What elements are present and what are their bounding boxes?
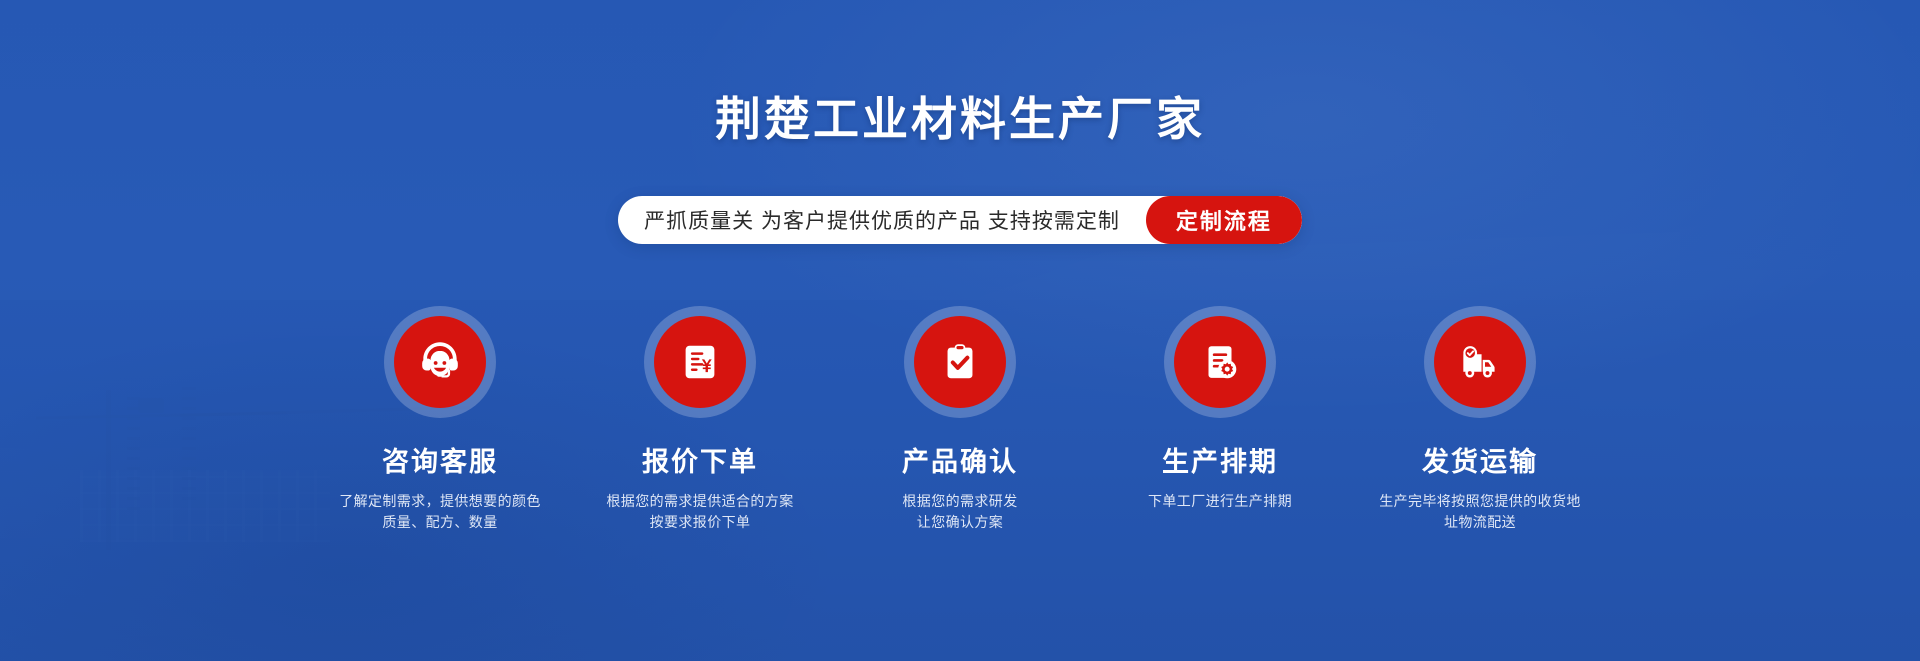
- process-banner: 荆楚工业材料生产厂家 严抓质量关 为客户提供优质的产品 支持按需定制 定制流程: [0, 0, 1920, 661]
- process-step-shipping[interactable]: 发货运输 生产完毕将按照您提供的收货地 址物流配送: [1350, 306, 1610, 533]
- step-icon-ring: [1164, 306, 1276, 418]
- step-title: 发货运输: [1350, 446, 1610, 478]
- step-icon-disc: [1174, 316, 1266, 408]
- step-description-line1: 根据您的需求研发: [902, 493, 1017, 509]
- process-step-product-confirm[interactable]: 产品确认 根据您的需求研发 让您确认方案: [830, 306, 1090, 533]
- step-description: 生产完毕将按照您提供的收货地 址物流配送: [1350, 491, 1610, 533]
- step-icon-ring: [384, 306, 496, 418]
- step-icon-disc: [1434, 316, 1526, 408]
- slogan-bar-wrapper: 严抓质量关 为客户提供优质的产品 支持按需定制 定制流程: [0, 196, 1920, 244]
- step-description-line1: 根据您的需求提供适合的方案: [606, 493, 793, 509]
- step-icon-disc: [394, 316, 486, 408]
- step-description-line2: 址物流配送: [1444, 514, 1516, 530]
- step-description-line1: 了解定制需求，提供想要的颜色: [339, 493, 541, 509]
- custom-process-button[interactable]: 定制流程: [1146, 196, 1302, 244]
- step-description-line2: 质量、配方、数量: [382, 514, 497, 530]
- step-icon-ring: [1424, 306, 1536, 418]
- process-step-list: 咨询客服 了解定制需求，提供想要的颜色 质量、配方、数量: [310, 306, 1610, 533]
- document-gear-icon: [1197, 339, 1243, 385]
- process-step-consult[interactable]: 咨询客服 了解定制需求，提供想要的颜色 质量、配方、数量: [310, 306, 570, 533]
- step-icon-disc: [654, 316, 746, 408]
- step-icon-disc: [914, 316, 1006, 408]
- step-icon-ring: [644, 306, 756, 418]
- step-description: 了解定制需求，提供想要的颜色 质量、配方、数量: [310, 491, 570, 533]
- page-title: 荆楚工业材料生产厂家: [0, 91, 1920, 147]
- headset-support-icon: [415, 337, 465, 387]
- step-description-line2: 按要求报价下单: [650, 514, 751, 530]
- step-description-line1: 生产完毕将按照您提供的收货地: [1379, 493, 1581, 509]
- process-step-production-schedule[interactable]: 生产排期 下单工厂进行生产排期: [1090, 306, 1350, 512]
- step-title: 咨询客服: [310, 446, 570, 478]
- delivery-truck-icon: [1455, 337, 1505, 387]
- process-step-quote-order[interactable]: 报价下单 根据您的需求提供适合的方案 按要求报价下单: [570, 306, 830, 533]
- clipboard-check-icon: [937, 339, 983, 385]
- step-description: 根据您的需求提供适合的方案 按要求报价下单: [570, 491, 830, 533]
- slogan-bar: 严抓质量关 为客户提供优质的产品 支持按需定制 定制流程: [618, 196, 1302, 244]
- banner-content: 荆楚工业材料生产厂家 严抓质量关 为客户提供优质的产品 支持按需定制 定制流程: [0, 0, 1920, 661]
- step-icon-ring: [904, 306, 1016, 418]
- step-description-line1: 下单工厂进行生产排期: [1148, 493, 1292, 509]
- invoice-yuan-icon: [677, 339, 723, 385]
- step-description-line2: 让您确认方案: [917, 514, 1003, 530]
- step-description: 下单工厂进行生产排期: [1090, 491, 1350, 512]
- step-title: 产品确认: [830, 446, 1090, 478]
- step-title: 报价下单: [570, 446, 830, 478]
- slogan-text: 严抓质量关 为客户提供优质的产品 支持按需定制: [644, 196, 1146, 244]
- step-description: 根据您的需求研发 让您确认方案: [830, 491, 1090, 533]
- step-title: 生产排期: [1090, 446, 1350, 478]
